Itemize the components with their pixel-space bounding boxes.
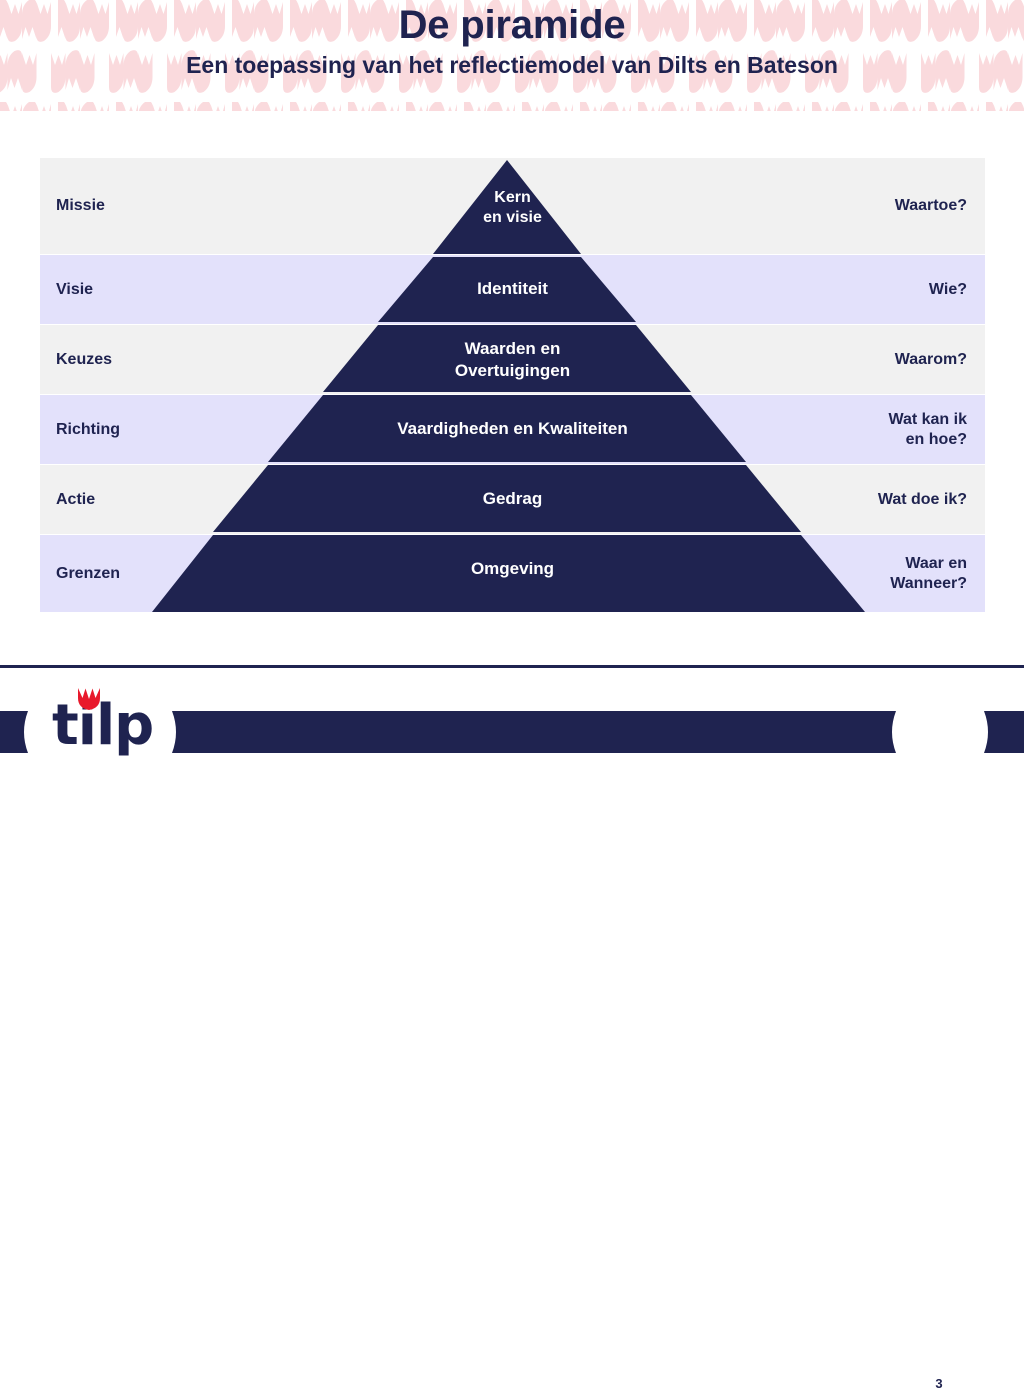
pyramid-diagram: Missie Waartoe? Visie Wie? Keuzes Waarom… bbox=[40, 158, 985, 612]
row-band-keuzes: Keuzes Waarom? bbox=[40, 325, 985, 394]
left-label-actie: Actie bbox=[56, 490, 95, 510]
page-subtitle: Een toepassing van het reflectiemodel va… bbox=[186, 52, 838, 80]
right-label-missie: Waartoe? bbox=[895, 196, 967, 216]
left-label-missie: Missie bbox=[56, 196, 105, 216]
right-label-keuzes: Waarom? bbox=[895, 350, 967, 370]
slide-header: De piramide Een toepassing van het refle… bbox=[0, 0, 1024, 111]
right-label-grenzen: Waar en Wanneer? bbox=[890, 554, 967, 594]
row-band-visie: Visie Wie? bbox=[40, 255, 985, 324]
left-label-visie: Visie bbox=[56, 280, 93, 300]
page-title: De piramide bbox=[399, 2, 626, 48]
left-label-grenzen: Grenzen bbox=[56, 564, 120, 584]
row-band-richting: Richting Wat kan ik en hoe? bbox=[40, 395, 985, 464]
row-band-actie: Actie Wat doe ik? bbox=[40, 465, 985, 534]
left-label-richting: Richting bbox=[56, 420, 120, 440]
left-label-keuzes: Keuzes bbox=[56, 350, 112, 370]
tilp-logo-text: tilp bbox=[52, 698, 162, 754]
row-band-grenzen: Grenzen Waar en Wanneer? bbox=[40, 535, 985, 612]
right-label-richting: Wat kan ik en hoe? bbox=[888, 410, 967, 450]
right-label-visie: Wie? bbox=[929, 280, 967, 300]
tulip-icon bbox=[76, 686, 102, 712]
row-band-missie: Missie Waartoe? bbox=[40, 158, 985, 254]
right-label-actie: Wat doe ik? bbox=[878, 490, 967, 510]
page-number: 3 bbox=[920, 1376, 958, 1391]
tilp-logo[interactable]: tilp bbox=[52, 686, 162, 760]
